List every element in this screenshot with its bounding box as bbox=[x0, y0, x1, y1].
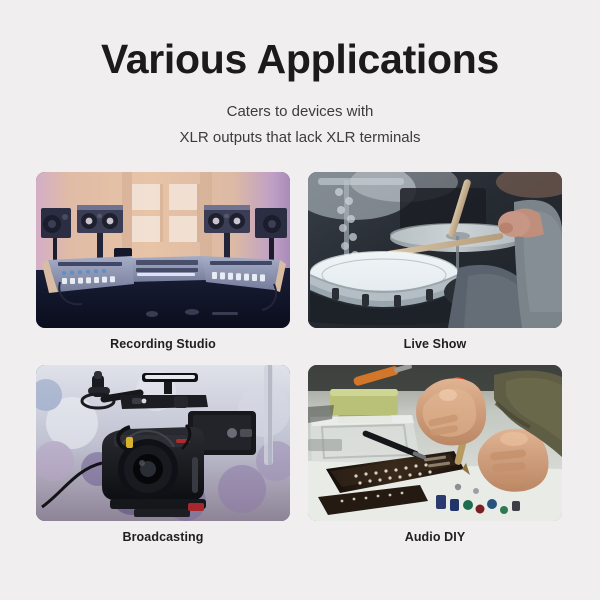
card-caption: Recording Studio bbox=[36, 336, 290, 354]
page-subtitle: Caters to devices with XLR outputs that … bbox=[0, 99, 600, 151]
application-card-live-show[interactable]: Live Show bbox=[308, 172, 562, 354]
card-caption: Live Show bbox=[308, 336, 562, 354]
card-caption: Broadcasting bbox=[36, 529, 290, 547]
subtitle-line-1: Caters to devices with bbox=[0, 99, 600, 125]
card-caption: Audio DIY bbox=[308, 529, 562, 547]
application-card-recording-studio[interactable]: Recording Studio bbox=[36, 172, 290, 354]
page-title: Various Applications bbox=[0, 38, 600, 81]
broadcasting-camera-photo bbox=[36, 365, 290, 521]
audio-diy-soldering-photo bbox=[308, 365, 562, 521]
live-show-drummer-photo bbox=[308, 172, 562, 328]
application-card-broadcasting[interactable]: Broadcasting bbox=[36, 365, 290, 547]
recording-studio-photo bbox=[36, 172, 290, 328]
subtitle-line-2: XLR outputs that lack XLR terminals bbox=[0, 125, 600, 151]
application-card-audio-diy[interactable]: Audio DIY bbox=[308, 365, 562, 547]
application-grid: Recording Studio bbox=[36, 172, 562, 546]
applications-page: Various Applications Caters to devices w… bbox=[0, 0, 600, 600]
page-header: Various Applications Caters to devices w… bbox=[0, 0, 600, 151]
